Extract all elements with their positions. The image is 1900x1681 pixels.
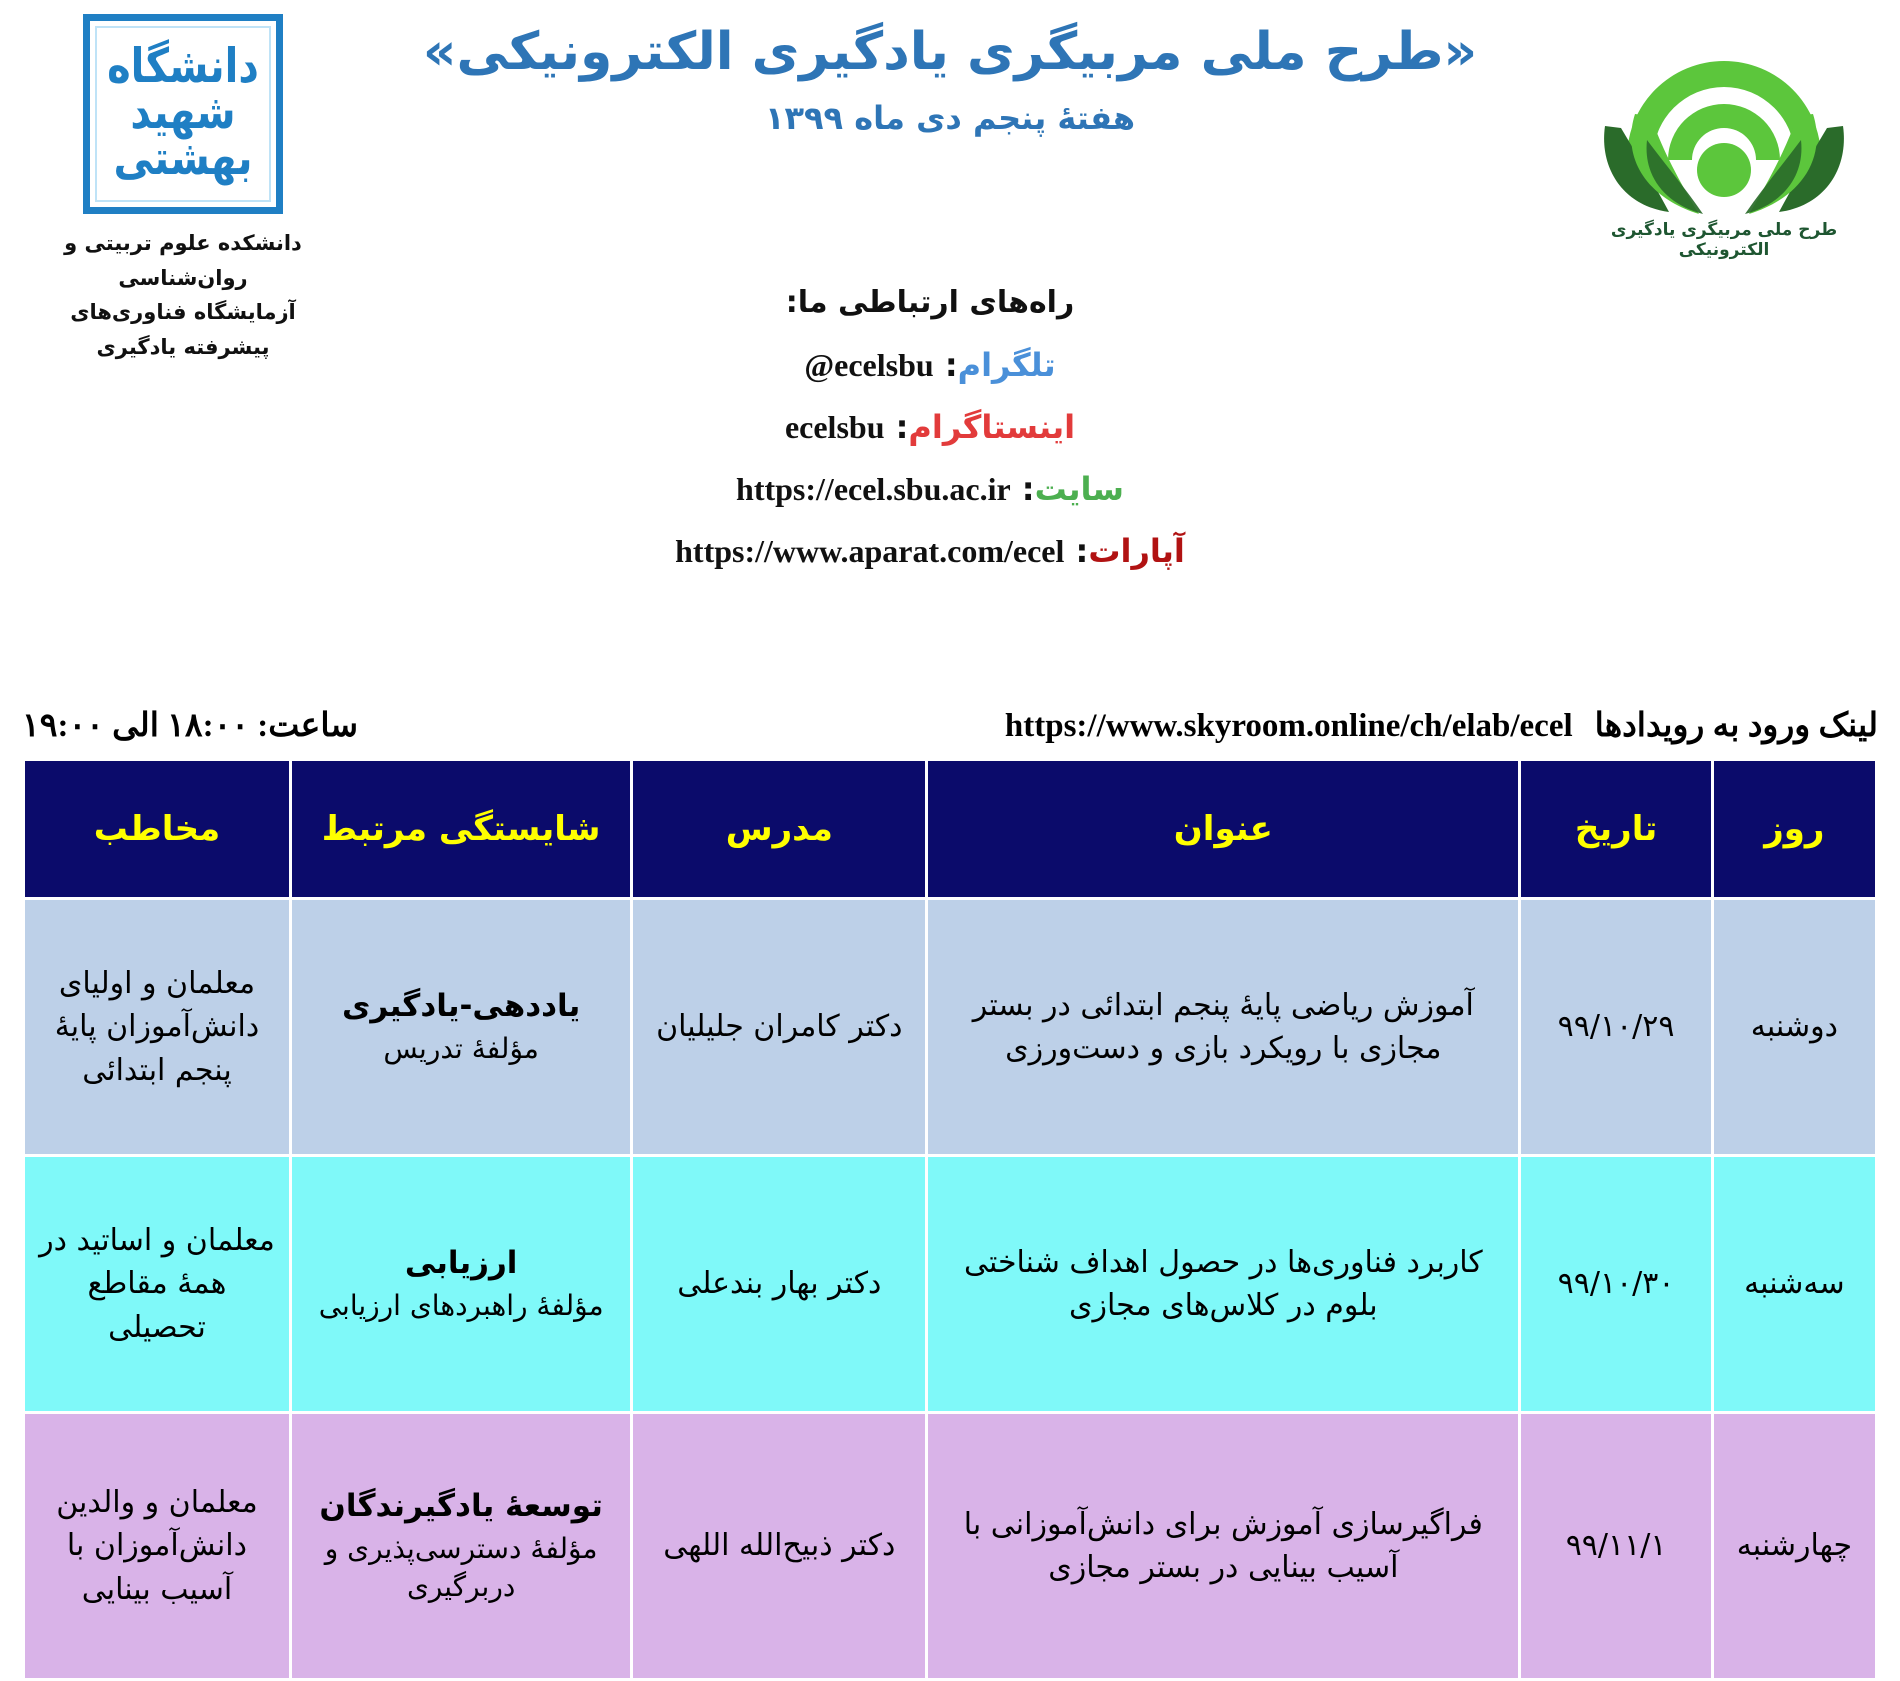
contact-row-website: سایت: https://ecel.sbu.ac.ir [0, 470, 1860, 508]
competency-main: ارزیابی [306, 1243, 616, 1283]
competency-sub: مؤلفهٔ دسترسی‌پذیری و دربرگیری [306, 1530, 616, 1606]
contact-heading: راه‌های ارتباطی ما: [0, 285, 1860, 320]
page-title: «طرح ملی مربیگری یادگیری الکترونیکی» [330, 20, 1570, 85]
table-row: چهارشنبه ۹۹/۱۱/۱ فراگیرسازی آموزش برای د… [24, 1413, 1877, 1680]
cell-title: آموزش ریاضی پایهٔ پنجم ابتدائی در بستر م… [927, 899, 1520, 1156]
cell-audience: معلمان و اولیای دانش‌آموزان پایهٔ پنجم ا… [24, 899, 291, 1156]
cell-day: چهارشنبه [1712, 1413, 1876, 1680]
contact-colon: : [1064, 532, 1088, 570]
cell-date: ۹۹/۱۰/۲۹ [1520, 899, 1712, 1156]
cell-competency: ارزیابی مؤلفهٔ راهبردهای ارزیابی [290, 1156, 631, 1413]
cell-date: ۹۹/۱۰/۳۰ [1520, 1156, 1712, 1413]
page-subtitle: هفتهٔ پنجم دی ماه ۱۳۹۹ [330, 99, 1570, 137]
program-logo-block: طرح ملی مربیگری یادگیری الکترونیکی [1574, 8, 1874, 260]
contact-label-aparat: آپارات [1088, 532, 1185, 570]
competency-sub: مؤلفهٔ راهبردهای ارزیابی [306, 1287, 616, 1325]
cell-competency: یاددهی-یادگیری مؤلفهٔ تدریس [290, 899, 631, 1156]
sbu-logo-script: دانشگاه شهید بهشتی [97, 45, 269, 184]
column-header-date: تاریخ [1520, 760, 1712, 899]
table-row: دوشنبه ۹۹/۱۰/۲۹ آموزش ریاضی پایهٔ پنجم ا… [24, 899, 1877, 1156]
contact-section: راه‌های ارتباطی ما: تلگرام: @ecelsbu این… [0, 285, 1900, 594]
competency-sub: مؤلفهٔ تدریس [306, 1030, 616, 1068]
contact-row-instagram: اینستاگرام: ecelsbu [0, 408, 1860, 446]
table-header-row: روز تاریخ عنوان مدرس شایستگی مرتبط مخاطب [24, 760, 1877, 899]
schedule-table-body: دوشنبه ۹۹/۱۰/۲۹ آموزش ریاضی پایهٔ پنجم ا… [24, 899, 1877, 1680]
cell-title: کاربرد فناوری‌ها در حصول اهداف شناختی بل… [927, 1156, 1520, 1413]
event-link-group: لینک ورود به رویدادها https://www.skyroo… [1005, 705, 1878, 745]
contact-value-telegram[interactable]: @ecelsbu [804, 347, 933, 384]
contact-label-instagram: اینستاگرام [908, 408, 1075, 446]
contact-value-website[interactable]: https://ecel.sbu.ac.ir [736, 471, 1011, 508]
event-time-text: ساعت: ۱۸:۰۰ الی ۱۹:۰۰ [22, 705, 358, 745]
column-header-teacher: مدرس [632, 760, 927, 899]
contact-value-instagram[interactable]: ecelsbu [785, 409, 885, 446]
cell-teacher: دکتر بهار بندعلی [632, 1156, 927, 1413]
cell-date: ۹۹/۱۱/۱ [1520, 1413, 1712, 1680]
contact-colon: : [884, 408, 908, 446]
cell-teacher: دکتر کامران جلیلیان [632, 899, 927, 1156]
table-row: سه‌شنبه ۹۹/۱۰/۳۰ کاربرد فناوری‌ها در حصو… [24, 1156, 1877, 1413]
contact-label-website: سایت [1035, 470, 1124, 508]
column-header-competency: شایستگی مرتبط [290, 760, 631, 899]
contact-row-telegram: تلگرام: @ecelsbu [0, 346, 1860, 384]
contact-colon: : [1011, 470, 1035, 508]
competency-main: یاددهی-یادگیری [306, 986, 616, 1026]
column-header-day: روز [1712, 760, 1876, 899]
cell-audience: معلمان و اساتید در همهٔ مقاطع تحصیلی [24, 1156, 291, 1413]
cell-competency: توسعهٔ یادگیرندگان مؤلفهٔ دسترسی‌پذیری و… [290, 1413, 631, 1680]
event-link-url[interactable]: https://www.skyroom.online/ch/elab/ecel [1005, 708, 1573, 745]
event-link-bar: لینک ورود به رویدادها https://www.skyroo… [0, 695, 1900, 755]
schedule-table: روز تاریخ عنوان مدرس شایستگی مرتبط مخاطب… [22, 758, 1878, 1681]
schedule-table-wrapper: روز تاریخ عنوان مدرس شایستگی مرتبط مخاطب… [22, 758, 1878, 1681]
contact-label-telegram: تلگرام [958, 346, 1056, 384]
competency-main: توسعهٔ یادگیرندگان [306, 1486, 616, 1526]
contact-colon: : [934, 346, 958, 384]
event-link-label: لینک ورود به رویدادها [1595, 705, 1878, 745]
column-header-title: عنوان [927, 760, 1520, 899]
schedule-table-head: روز تاریخ عنوان مدرس شایستگی مرتبط مخاطب [24, 760, 1877, 899]
program-logo-caption: طرح ملی مربیگری یادگیری الکترونیکی [1574, 220, 1874, 260]
sbu-logo-icon: دانشگاه شهید بهشتی [83, 14, 283, 214]
cell-audience: معلمان و والدین دانش‌آموزان با آسیب بینا… [24, 1413, 291, 1680]
column-header-audience: مخاطب [24, 760, 291, 899]
cell-day: دوشنبه [1712, 899, 1876, 1156]
contact-value-aparat[interactable]: https://www.aparat.com/ecel [675, 533, 1064, 570]
contact-row-aparat: آپارات: https://www.aparat.com/ecel [0, 532, 1860, 570]
poster-header: دانشگاه شهید بهشتی دانشکده علوم تربیتی و… [0, 0, 1900, 290]
cell-teacher: دکتر ذبیح‌الله اللهی [632, 1413, 927, 1680]
cell-title: فراگیرسازی آموزش برای دانش‌آموزانی با آس… [927, 1413, 1520, 1680]
cell-day: سه‌شنبه [1712, 1156, 1876, 1413]
hands-wifi-logo-icon [1599, 8, 1849, 218]
